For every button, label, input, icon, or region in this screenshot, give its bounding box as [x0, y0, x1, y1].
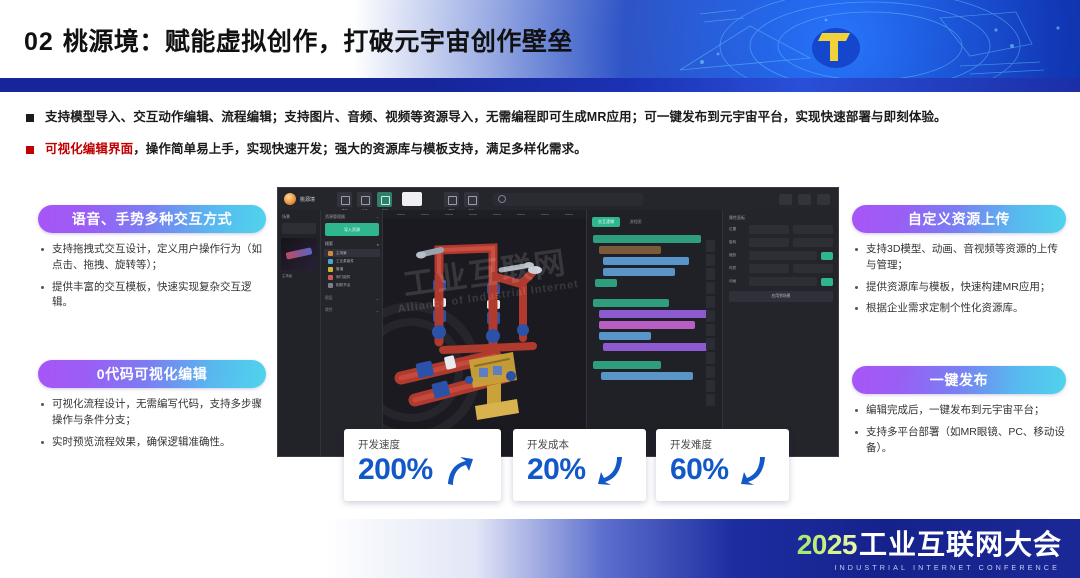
page-title: 02桃源境：赋能虚拟创作，打破元宇宙创作壁垒: [24, 22, 573, 58]
assets-tree-item-label: 管道: [336, 267, 343, 272]
stat-label: 开发难度: [670, 437, 789, 452]
search-input[interactable]: [493, 193, 643, 206]
logic-block[interactable]: [593, 299, 669, 307]
industrial-pump-3d-model: [383, 210, 587, 456]
property-input[interactable]: [749, 277, 817, 286]
callout-title: 语音、手势多种交互方式: [72, 209, 233, 229]
stat-value-row: 20%: [527, 452, 646, 488]
property-toggle[interactable]: [821, 278, 833, 286]
assets-search-row: 搜索 ⌕: [325, 241, 379, 247]
assets-tree-item-label: 工业泵组件: [336, 259, 354, 264]
conference-year: 2025: [797, 531, 857, 559]
folder-icon: [328, 251, 333, 256]
property-input[interactable]: [749, 264, 789, 273]
assets-tree-item[interactable]: 阀门组件: [324, 273, 380, 281]
property-input[interactable]: [793, 264, 833, 273]
logic-block[interactable]: [593, 235, 701, 243]
app-3d-canvas[interactable]: 工业互联网 Alliance of Industrial Internet: [382, 210, 587, 456]
action-icon: [361, 196, 370, 205]
bullet-row-2: 可视化编辑界面，操作简单易上手，实现快速开发；强大的资源库与模板支持，满足多样化…: [26, 140, 1056, 158]
toolbar-right-group: [779, 194, 830, 205]
slide-root: 02桃源境：赋能虚拟创作，打破元宇宙创作壁垒 支持模型导入、交互动作编辑、流程编…: [0, 0, 1080, 578]
property-input[interactable]: [749, 225, 789, 234]
callout-bullet: 提供丰富的交互模板，快速实现复杂交互逻辑。: [38, 280, 266, 312]
app-assets-panel: 资源管理器 − 导入资源 搜索 ⌕ 主场景 工业泵组件 管道 阀门组件 相机节点…: [320, 210, 383, 456]
property-row: 材质: [729, 264, 833, 273]
section-number: 02: [24, 28, 54, 56]
cube-icon: [328, 259, 333, 264]
assets-tree-item-label: 相机节点: [336, 283, 350, 288]
blocks-tab-active[interactable]: 交互逻辑: [592, 217, 620, 227]
pipe-icon: [328, 267, 333, 272]
callout-title: 一键发布: [930, 370, 988, 390]
scene-thumbnail[interactable]: [281, 238, 317, 270]
bullet-row-1: 支持模型导入、交互动作编辑、流程编辑；支持图片、音频、视频等资源导入，无需编程即…: [26, 108, 1056, 126]
property-row: 位置: [729, 225, 833, 234]
preview-icon: [448, 196, 457, 205]
callout-bullet-list: 可视化流程设计，无需编写代码，支持多步骤操作与条件分支； 实时预览流程效果，确保…: [38, 397, 266, 450]
toolbar-button-preview[interactable]: 预览: [444, 192, 459, 207]
publish-icon: [468, 196, 477, 205]
callout-bullet: 支持拖拽式交互设计，定义用户操作行为（如点击、拖拽、旋转等）；: [38, 242, 266, 274]
logic-block[interactable]: [599, 321, 695, 329]
conference-logo: 2025 工业互联网大会 INDUSTRIAL INTERNET CONFERE…: [797, 531, 1062, 559]
logic-block[interactable]: [603, 343, 707, 351]
stat-label: 开发速度: [358, 437, 501, 452]
properties-panel-header: 属性面板: [729, 215, 838, 221]
callout-title: 自定义资源上传: [908, 209, 1010, 229]
callout-header: 0代码可视化编辑: [38, 360, 266, 388]
logic-block[interactable]: [595, 279, 617, 287]
property-label: 位置: [729, 227, 745, 232]
props-expand-icon[interactable]: ⌄: [376, 308, 379, 313]
app-blocks-panel: 交互逻辑 流程图: [586, 210, 723, 456]
import-resource-button[interactable]: 导入资源: [325, 223, 379, 236]
assets-tree-item[interactable]: 主场景: [324, 249, 380, 257]
stat-card-dev-speed: 开发速度 200%: [344, 429, 501, 501]
toolbar-button-settings[interactable]: [817, 194, 830, 205]
assets-tree-item-label: 阀门组件: [336, 275, 350, 280]
bullet-text-2: 可视化编辑界面，操作简单易上手，实现快速开发；强大的资源库与模板支持，满足多样化…: [45, 140, 587, 158]
property-label: 动画: [729, 279, 745, 284]
property-row: 动画: [729, 277, 833, 286]
layers-expand-icon[interactable]: ⌄: [376, 296, 379, 301]
toolbar-active-indicator[interactable]: [402, 192, 422, 206]
assets-tree: 主场景 工业泵组件 管道 阀门组件 相机节点: [324, 249, 380, 289]
assets-footer-layers[interactable]: 图层 ⌄: [325, 296, 379, 301]
stat-value: 20%: [527, 454, 586, 486]
callout-header: 语音、手势多种交互方式: [38, 205, 266, 233]
logic-block[interactable]: [599, 310, 711, 318]
callout-custom-upload: 自定义资源上传 支持3D模型、动画、音视频等资源的上传与管理； 提供资源库与模板…: [852, 205, 1066, 323]
tencent-t-logo-icon: [810, 24, 862, 70]
callout-zero-code: 0代码可视化编辑 可视化流程设计，无需编写代码，支持多步骤操作与条件分支； 实时…: [38, 360, 266, 456]
property-input[interactable]: [793, 225, 833, 234]
app-properties-panel: 属性面板 位置 旋转 缩放 材质 动画: [722, 210, 838, 456]
camera-icon: [328, 283, 333, 288]
blocks-scroll-rail[interactable]: [706, 240, 715, 408]
toolbar-button-redo[interactable]: [798, 194, 811, 205]
property-row: 旋转: [729, 238, 833, 247]
property-toggle[interactable]: [821, 252, 833, 260]
assets-tree-item[interactable]: 管道: [324, 265, 380, 273]
logic-block[interactable]: [603, 257, 689, 265]
logic-block[interactable]: [603, 268, 675, 276]
bullet-text-2-rest: ，操作简单易上手，实现快速开发；强大的资源库与模板支持，满足多样化需求。: [133, 142, 587, 156]
logic-block[interactable]: [599, 332, 651, 340]
arrow-down-curved-icon: [738, 454, 772, 488]
header-blue-band: [0, 78, 1080, 92]
toolbar-button-undo[interactable]: [779, 194, 792, 205]
callout-header: 自定义资源上传: [852, 205, 1066, 233]
toolbar-button-action[interactable]: 动作: [357, 192, 372, 207]
blocks-tab-inactive[interactable]: 流程图: [629, 219, 641, 225]
assets-panel-collapse-icon[interactable]: −: [377, 215, 379, 220]
property-input[interactable]: [793, 238, 833, 247]
scene-list-tab[interactable]: [282, 223, 316, 234]
title-text: 桃源境：赋能虚拟创作，打破元宇宙创作壁垒: [63, 28, 573, 56]
conference-name-en: INDUSTRIAL INTERNET CONFERENCE: [834, 563, 1060, 572]
stat-value-row: 60%: [670, 452, 789, 488]
callout-bullet-list: 支持3D模型、动画、音视频等资源的上传与管理； 提供资源库与模板，快速构建MR应…: [852, 242, 1066, 317]
assets-panel-header: 资源管理器 −: [321, 210, 383, 223]
red-square-bullet-icon: [26, 146, 34, 154]
conference-name-cn: 工业互联网大会: [859, 531, 1062, 559]
apply-to-scene-button[interactable]: 应用到场景: [729, 291, 833, 302]
property-input[interactable]: [749, 238, 789, 247]
toolbar-button-publish[interactable]: 发布: [464, 192, 479, 207]
valve-icon: [328, 275, 333, 280]
stat-card-dev-difficulty: 开发难度 60%: [656, 429, 789, 501]
assets-footer-right-label: 属性: [325, 308, 333, 313]
callout-title: 0代码可视化编辑: [97, 364, 208, 384]
callout-bullet: 支持多平台部署（如MR眼镜、PC、移动设备）。: [852, 425, 1066, 457]
conference-logo-main: 2025 工业互联网大会: [797, 531, 1062, 559]
black-square-bullet-icon: [26, 114, 34, 122]
property-label: 缩放: [729, 253, 745, 258]
bullet-list: 支持模型导入、交互动作编辑、流程编辑；支持图片、音频、视频等资源导入，无需编程即…: [26, 108, 1056, 172]
logic-block[interactable]: [593, 361, 661, 369]
scene-panel-header: 场景: [282, 214, 320, 220]
callout-one-click-publish: 一键发布 编辑完成后，一键发布到元宇宙平台； 支持多平台部署（如MR眼镜、PC、…: [852, 366, 1066, 462]
arrow-down-curved-icon: [595, 454, 629, 488]
toolbar-button-model[interactable]: 模型: [337, 192, 352, 207]
property-label: 旋转: [729, 240, 745, 245]
callout-bullet: 可视化流程设计，无需编写代码，支持多步骤操作与条件分支；: [38, 397, 266, 429]
arrow-up-curved-icon: [442, 454, 476, 488]
bullet-highlight: 可视化编辑界面: [45, 142, 133, 156]
app-scene-panel: 场景 主场景: [278, 210, 320, 456]
scene-thumbnail-caption: 主场景: [282, 273, 320, 278]
stat-value: 60%: [670, 454, 729, 486]
toolbar-tool-group: 模型 动作 流程: [337, 192, 392, 207]
stat-value: 200%: [358, 454, 433, 486]
callout-bullet: 实时预览流程效果，确保逻辑准确性。: [38, 435, 266, 451]
callout-header: 一键发布: [852, 366, 1066, 394]
slide-footer: 2025 工业互联网大会 INDUSTRIAL INTERNET CONFERE…: [0, 519, 1080, 578]
flow-icon: [381, 196, 390, 205]
bullet-text-1: 支持模型导入、交互动作编辑、流程编辑；支持图片、音频、视频等资源导入，无需编程即…: [45, 108, 947, 126]
assets-footer-props[interactable]: 属性 ⌄: [325, 308, 379, 313]
slide-header: 02桃源境：赋能虚拟创作，打破元宇宙创作壁垒: [0, 0, 1080, 92]
app-logo-icon: [284, 193, 296, 205]
callout-bullet-list: 编辑完成后，一键发布到元宇宙平台； 支持多平台部署（如MR眼镜、PC、移动设备）…: [852, 403, 1066, 456]
property-input[interactable]: [749, 251, 817, 260]
property-row: 缩放: [729, 251, 833, 260]
toolbar-button-flow[interactable]: 流程: [377, 192, 392, 207]
logic-block[interactable]: [601, 372, 693, 380]
search-icon: [498, 195, 506, 203]
callout-bullet: 支持3D模型、动画、音视频等资源的上传与管理；: [852, 242, 1066, 274]
stat-label: 开发成本: [527, 437, 646, 452]
app-toolbar: 桃源境 模型 动作 流程 预览 发布: [278, 188, 838, 210]
app-name-label: 桃源境: [300, 196, 315, 203]
app-screenshot: 桃源境 模型 动作 流程 预览 发布 场景 主场景: [278, 188, 838, 456]
assets-tree-item[interactable]: 相机节点: [324, 281, 380, 289]
assets-search-label: 搜索: [325, 241, 333, 247]
assets-footer-left-label: 图层: [325, 296, 333, 301]
assets-panel-title: 资源管理器: [325, 214, 345, 220]
callout-bullet: 根据企业需求定制个性化资源库。: [852, 301, 1066, 317]
model-icon: [341, 196, 350, 205]
assets-tree-item[interactable]: 工业泵组件: [324, 257, 380, 265]
assets-tree-item-label: 主场景: [336, 251, 347, 256]
callout-bullet: 提供资源库与模板，快速构建MR应用；: [852, 280, 1066, 296]
callout-voice-gesture: 语音、手势多种交互方式 支持拖拽式交互设计，定义用户操作行为（如点击、拖拽、旋转…: [38, 205, 266, 317]
assets-filter-icon[interactable]: ⌕: [377, 242, 379, 247]
stat-value-row: 200%: [358, 452, 501, 488]
callout-bullet: 编辑完成后，一键发布到元宇宙平台；: [852, 403, 1066, 419]
property-label: 材质: [729, 266, 745, 271]
callout-bullet-list: 支持拖拽式交互设计，定义用户操作行为（如点击、拖拽、旋转等）； 提供丰富的交互模…: [38, 242, 266, 311]
logic-block[interactable]: [599, 246, 661, 254]
toolbar-extra-group: 预览 发布: [444, 192, 479, 207]
stat-card-dev-cost: 开发成本 20%: [513, 429, 646, 501]
